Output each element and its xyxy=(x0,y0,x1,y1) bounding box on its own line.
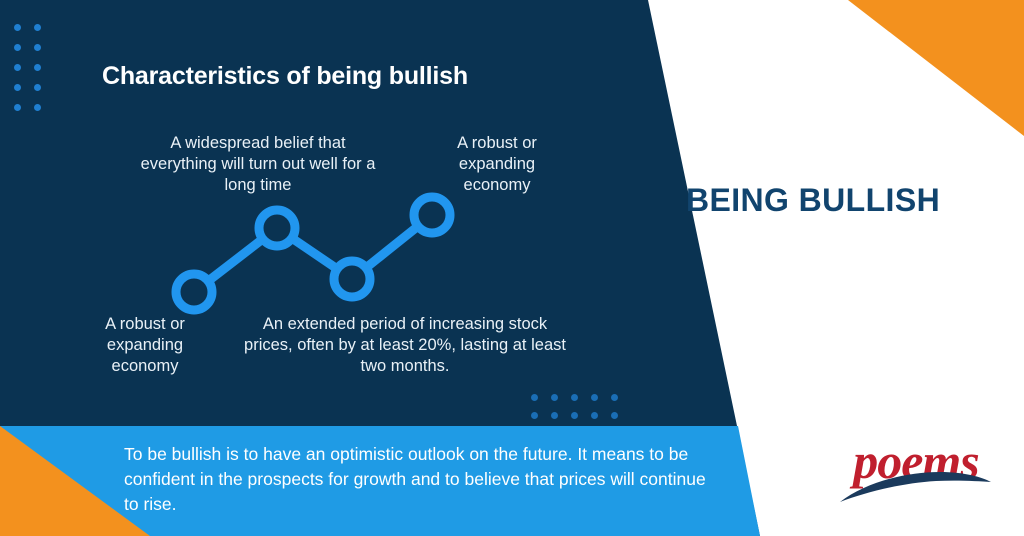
decorative-dot xyxy=(551,394,558,401)
infographic-canvas: Characteristics of being bullish A wides… xyxy=(0,0,1024,536)
decorative-dot xyxy=(14,24,21,31)
chart-point-1 xyxy=(259,210,295,246)
logo-swoosh-icon xyxy=(836,434,996,510)
decorative-dot xyxy=(551,412,558,419)
decorative-dot xyxy=(14,64,21,71)
decorative-dot xyxy=(14,84,21,91)
decorative-dot xyxy=(611,394,618,401)
decorative-dot xyxy=(591,412,598,419)
decorative-dot xyxy=(34,64,41,71)
decorative-dot xyxy=(571,394,578,401)
decorative-dot xyxy=(34,84,41,91)
side-title: BEING BULLISH xyxy=(686,182,940,219)
callout-economy-top: A robust or expanding economy xyxy=(424,133,570,196)
dot-grid-left xyxy=(14,24,41,111)
callout-stock-prices: An extended period of increasing stock p… xyxy=(243,314,567,377)
chart-point-2 xyxy=(334,261,370,297)
chart-line xyxy=(194,215,432,292)
page-title: Characteristics of being bullish xyxy=(102,62,468,91)
decorative-dot xyxy=(591,394,598,401)
chart-point-3 xyxy=(414,197,450,233)
chart-point-0 xyxy=(176,274,212,310)
decorative-dot xyxy=(531,412,538,419)
poems-logo: poems xyxy=(836,434,996,510)
decorative-dot xyxy=(571,412,578,419)
dot-grid-middle xyxy=(531,394,618,419)
decorative-dot xyxy=(14,44,21,51)
line-chart xyxy=(160,185,480,335)
callout-economy-bottom: A robust or expanding economy xyxy=(80,314,210,377)
banner-description: To be bullish is to have an optimistic o… xyxy=(124,442,716,517)
callout-widespread-belief: A widespread belief that everything will… xyxy=(140,133,376,196)
decorative-dot xyxy=(14,104,21,111)
decorative-dot xyxy=(34,44,41,51)
decorative-dot xyxy=(611,412,618,419)
decorative-dot xyxy=(34,104,41,111)
decorative-dot xyxy=(34,24,41,31)
decorative-dot xyxy=(531,394,538,401)
